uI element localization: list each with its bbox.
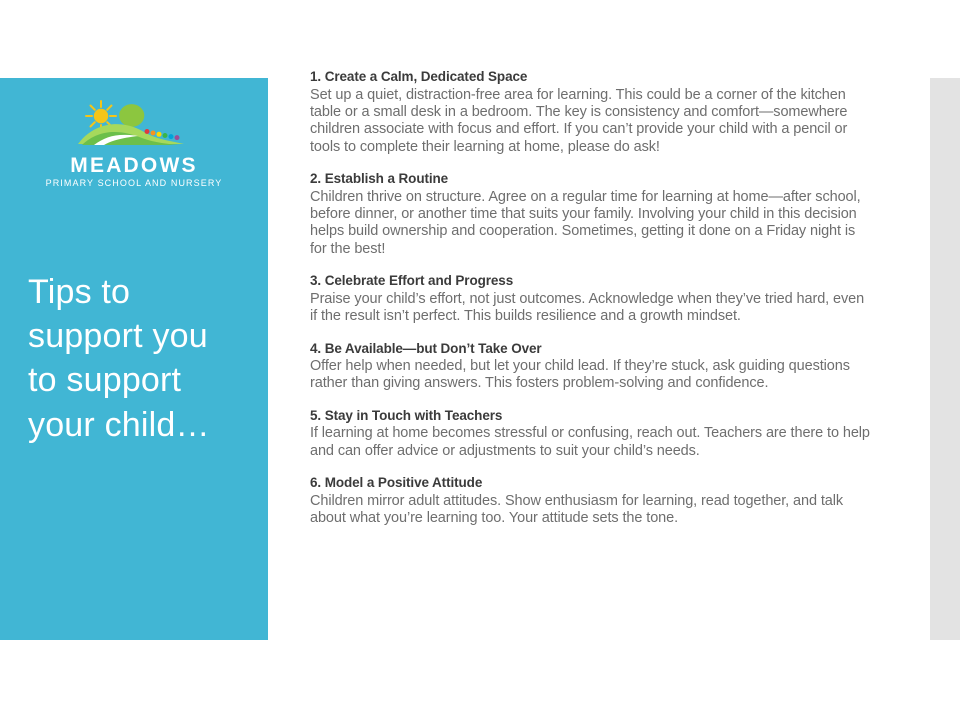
tip-item: 5. Stay in Touch with Teachers If learni… bbox=[310, 407, 872, 460]
tip-body: Children mirror adult attitudes. Show en… bbox=[310, 493, 872, 528]
tip-heading: 5. Stay in Touch with Teachers bbox=[310, 407, 872, 425]
meadows-hill-sun-tree-logo-icon bbox=[0, 100, 268, 157]
tip-heading: 3. Celebrate Effort and Progress bbox=[310, 272, 872, 290]
right-accent-bar bbox=[930, 78, 960, 640]
tip-item: 2. Establish a Routine Children thrive o… bbox=[310, 170, 872, 258]
tip-item: 4. Be Available—but Don’t Take Over Offe… bbox=[310, 340, 872, 393]
tip-item: 1. Create a Calm, Dedicated Space Set up… bbox=[310, 68, 872, 156]
tip-item: 6. Model a Positive Attitude Children mi… bbox=[310, 474, 872, 527]
tip-item: 3. Celebrate Effort and Progress Praise … bbox=[310, 272, 872, 325]
tip-body: Children thrive on structure. Agree on a… bbox=[310, 189, 872, 259]
tip-heading: 4. Be Available—but Don’t Take Over bbox=[310, 340, 872, 358]
tips-list: 1. Create a Calm, Dedicated Space Set up… bbox=[310, 68, 872, 528]
school-logo: MEADOWS PRIMARY SCHOOL AND NURSERY bbox=[0, 100, 268, 189]
slide-title: Tips to support you to support your chil… bbox=[28, 270, 246, 447]
tip-body: If learning at home becomes stressful or… bbox=[310, 425, 872, 460]
tip-heading: 2. Establish a Routine bbox=[310, 170, 872, 188]
tip-body: Praise your child’s effort, not just out… bbox=[310, 291, 872, 326]
tip-body: Offer help when needed, but let your chi… bbox=[310, 358, 872, 393]
logo-subtitle: PRIMARY SCHOOL AND NURSERY bbox=[0, 179, 268, 189]
tip-heading: 6. Model a Positive Attitude bbox=[310, 474, 872, 492]
tip-heading: 1. Create a Calm, Dedicated Space bbox=[310, 68, 872, 86]
left-accent-panel: MEADOWS PRIMARY SCHOOL AND NURSERY Tips … bbox=[0, 78, 268, 640]
tip-body: Set up a quiet, distraction-free area fo… bbox=[310, 87, 872, 157]
logo-wordmark: MEADOWS bbox=[0, 155, 268, 177]
